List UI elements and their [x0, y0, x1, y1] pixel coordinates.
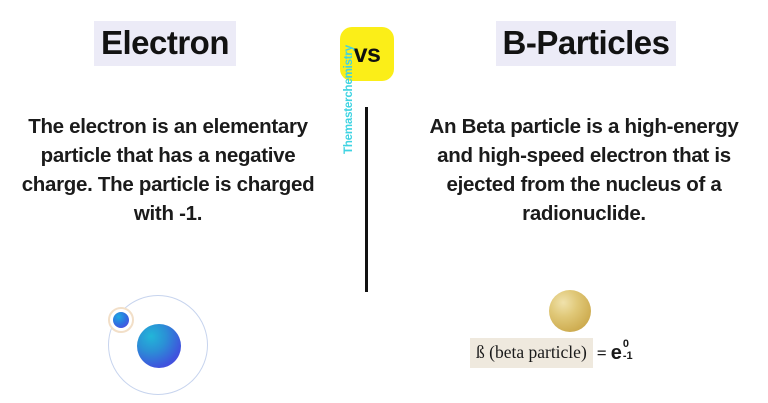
page-title-right: B-Particles: [416, 22, 756, 63]
nucleus-icon: [137, 324, 181, 368]
electron-icon: [113, 312, 129, 328]
page-title-right-text: B-Particles: [496, 21, 677, 66]
versus-badge-label: vs: [354, 40, 381, 69]
beta-equation-label: ß (beta particle): [470, 338, 593, 368]
beta-particle-sphere-icon: [549, 290, 591, 332]
description-left: The electron is an elementary particle t…: [8, 112, 328, 228]
page-title-left: Electron: [0, 22, 330, 63]
beta-equation-symbol: e: [611, 342, 622, 365]
beta-equation-equals: =: [593, 343, 611, 364]
beta-equation: ß (beta particle) = e 0 -1: [470, 337, 680, 369]
page-title-left-text: Electron: [94, 21, 236, 66]
center-divider: [365, 107, 368, 292]
beta-equation-subscript: -1: [623, 351, 633, 363]
description-right: An Beta particle is a high-energy and hi…: [414, 112, 754, 228]
watermark-text: Themasterchemistry: [342, 24, 356, 154]
beta-equation-scripts: 0 -1: [623, 339, 633, 362]
atom-illustration: [106, 293, 216, 403]
